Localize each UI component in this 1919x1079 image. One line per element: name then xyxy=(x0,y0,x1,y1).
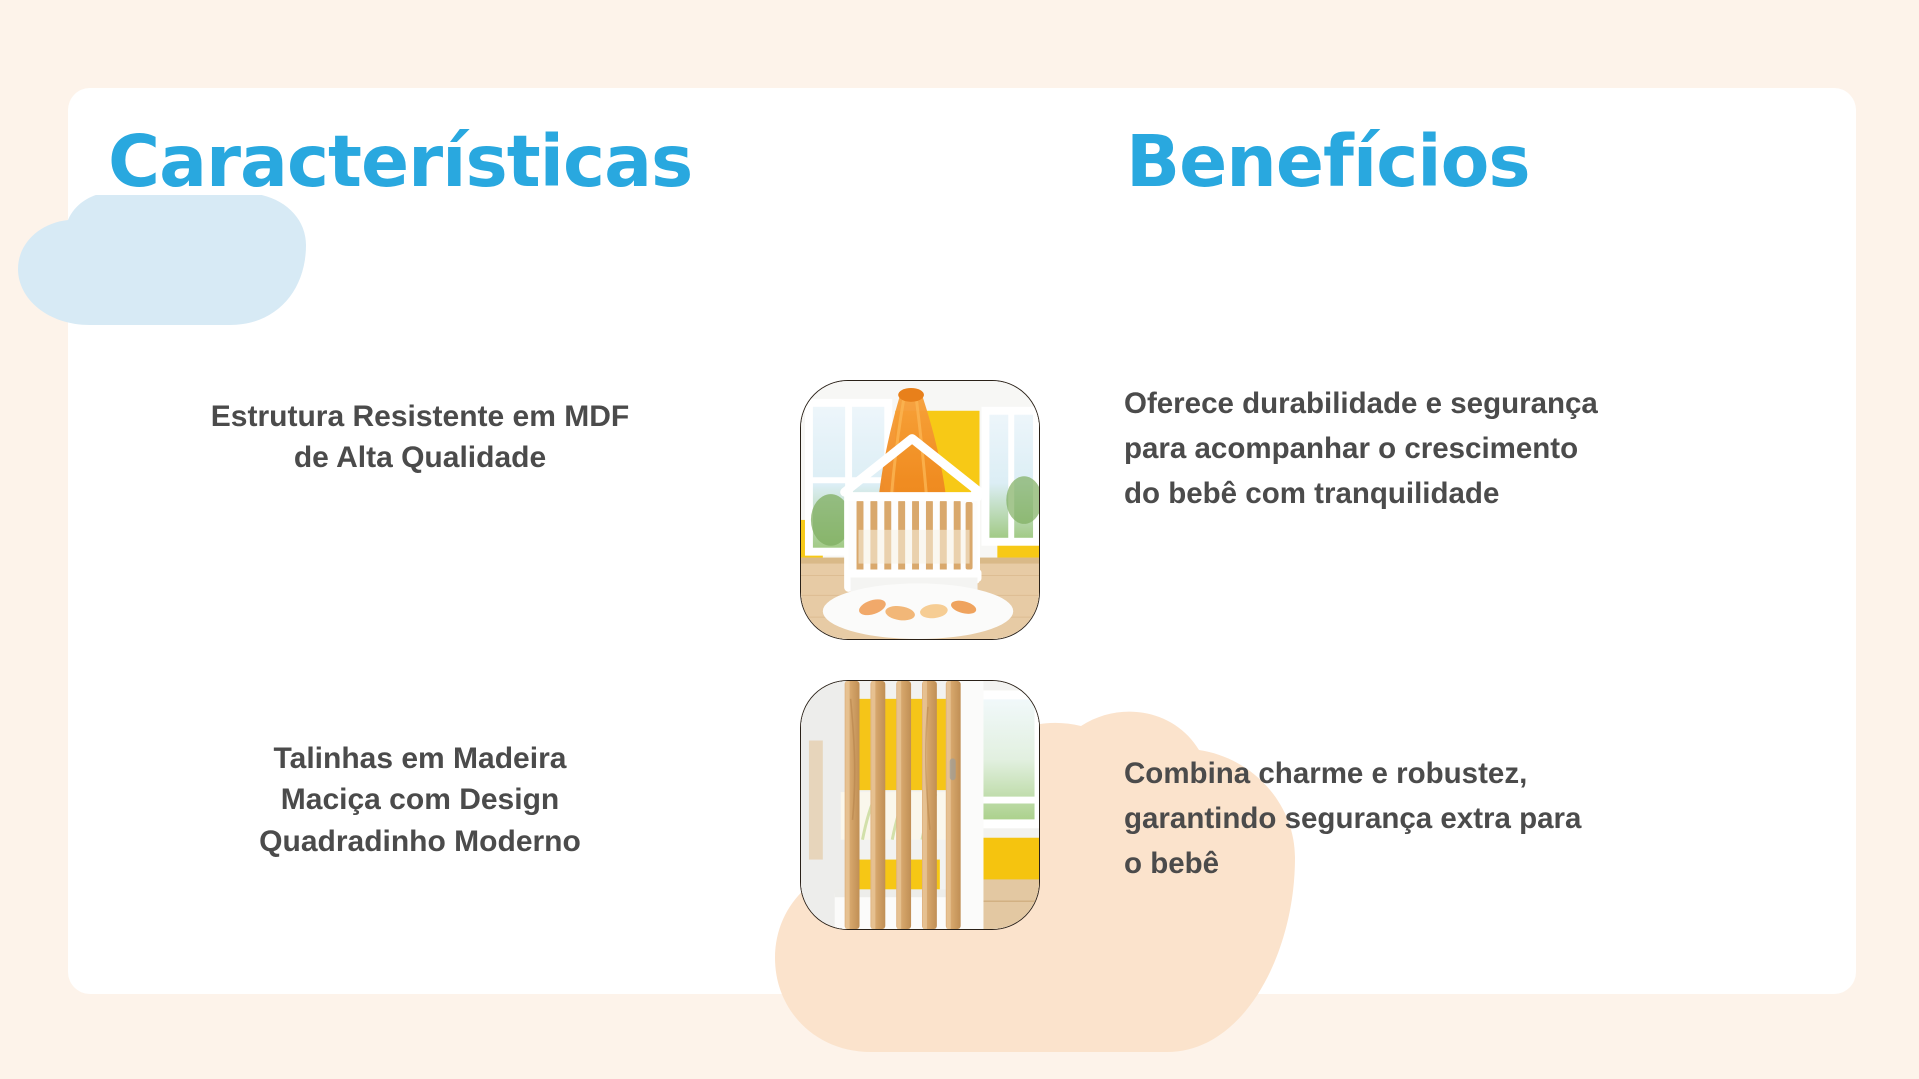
feature-text: Estrutura Resistente em MDF de Alta Qual… xyxy=(100,396,740,479)
feature-line: de Alta Qualidade xyxy=(294,441,546,474)
feature-line: Estrutura Resistente em MDF xyxy=(211,400,629,433)
feature-line: Quadradinho Moderno xyxy=(259,825,581,858)
benefit-line: o bebê xyxy=(1124,847,1219,880)
feature-line: Talinhas em Madeira xyxy=(274,742,567,775)
heading-beneficios: Benefícios xyxy=(1126,126,1530,197)
feature-text: Talinhas em Madeira Maciça com Design Qu… xyxy=(100,738,740,862)
benefit-line: garantindo segurança extra para xyxy=(1124,802,1581,835)
feature-line: Maciça com Design xyxy=(281,783,559,816)
benefit-text: Oferece durabilidade e segurança para ac… xyxy=(1124,382,1704,516)
crib-with-orange-canopy-photo xyxy=(800,380,1040,640)
slide-canvas: Características Benefícios Estrutura Res… xyxy=(0,0,1919,1079)
benefit-line: Oferece durabilidade e segurança xyxy=(1124,387,1598,420)
crib-wooden-slats-closeup-photo xyxy=(800,680,1040,930)
benefit-line: do bebê com tranquilidade xyxy=(1124,477,1499,510)
benefit-line: Combina charme e robustez, xyxy=(1124,757,1527,790)
benefit-text: Combina charme e robustez, garantindo se… xyxy=(1124,752,1704,886)
benefit-line: para acompanhar o crescimento xyxy=(1124,432,1578,465)
heading-caracteristicas: Características xyxy=(108,126,692,197)
